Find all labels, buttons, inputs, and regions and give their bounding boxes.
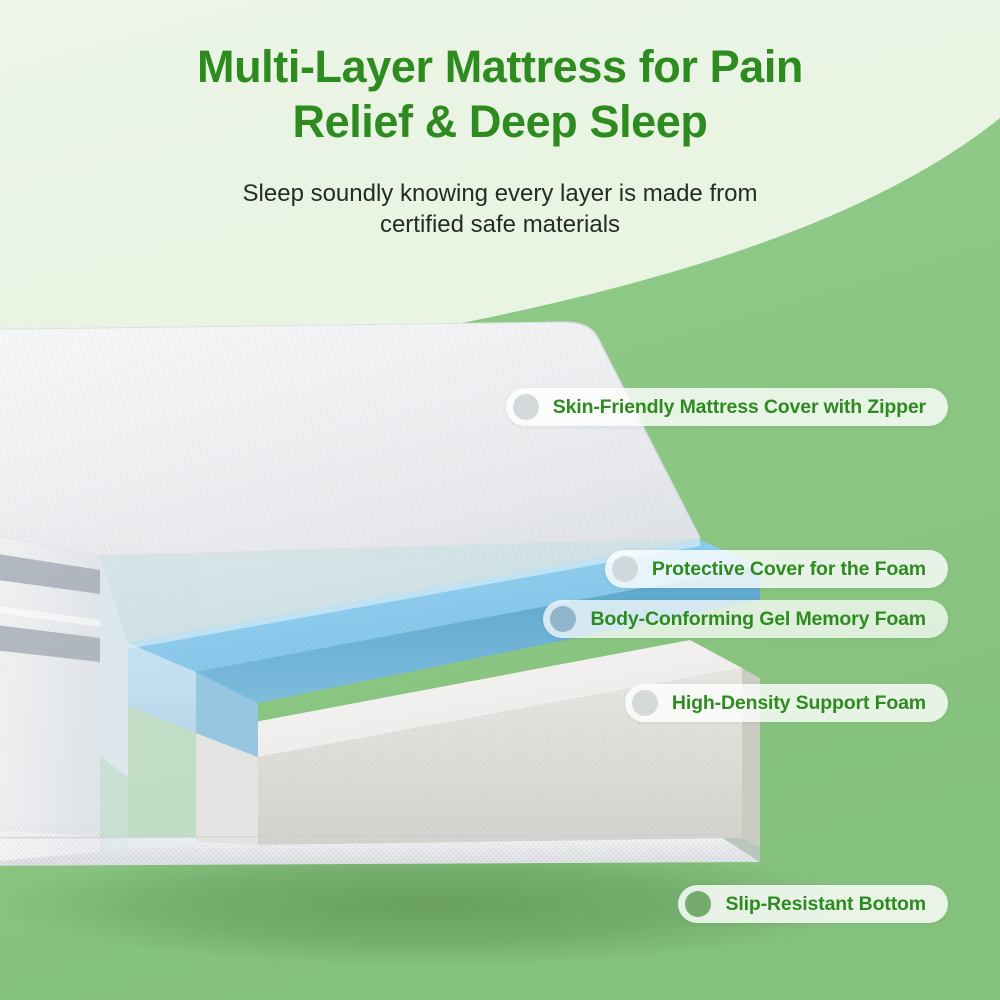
callout-cover[interactable]: Skin-Friendly Mattress Cover with Zipper [506,388,948,426]
subtitle-line-1: Sleep soundly knowing every layer is mad… [0,178,1000,209]
mattress-illustration [0,0,1000,1000]
subtitle-line-2: certified safe materials [0,209,1000,240]
layer-dot-icon [632,690,658,716]
callout-label-gel: Body-Conforming Gel Memory Foam [590,608,926,631]
layer-dot-icon [550,606,576,632]
callout-label-cover: Skin-Friendly Mattress Cover with Zipper [553,396,926,419]
infographic-canvas: Multi-Layer Mattress for Pain Relief & D… [0,0,1000,1000]
page-subtitle: Sleep soundly knowing every layer is mad… [0,178,1000,240]
callout-label-protective: Protective Cover for the Foam [652,558,926,581]
page-title: Multi-Layer Mattress for Pain Relief & D… [0,40,1000,150]
callout-gel[interactable]: Body-Conforming Gel Memory Foam [543,600,948,638]
callout-support[interactable]: High-Density Support Foam [625,684,948,722]
title-line-2: Relief & Deep Sleep [0,95,1000,150]
callout-bottom[interactable]: Slip-Resistant Bottom [678,885,948,923]
callout-protective[interactable]: Protective Cover for the Foam [605,550,948,588]
layer-dot-icon [685,891,711,917]
callout-label-bottom: Slip-Resistant Bottom [725,893,926,916]
layer-dot-icon [513,394,539,420]
title-line-1: Multi-Layer Mattress for Pain [0,40,1000,95]
callout-label-support: High-Density Support Foam [672,692,926,715]
layer-dot-icon [612,556,638,582]
